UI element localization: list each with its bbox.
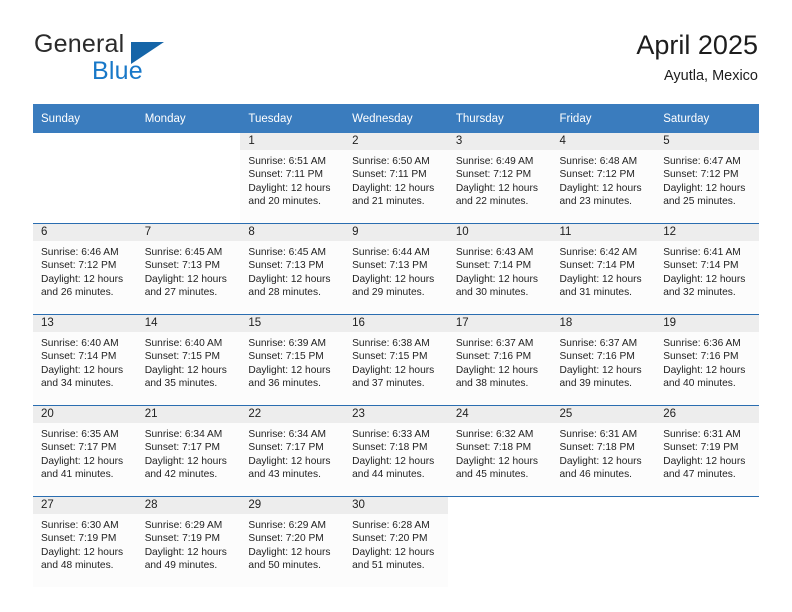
sunrise-time: Sunrise: 6:34 AM — [145, 428, 237, 441]
sunset-time: Sunset: 7:14 PM — [456, 259, 548, 272]
day-details: Sunrise: 6:42 AMSunset: 7:14 PMDaylight:… — [552, 241, 656, 300]
sunset-time: Sunset: 7:17 PM — [41, 441, 133, 454]
sunrise-time: Sunrise: 6:40 AM — [41, 337, 133, 350]
day-details: Sunrise: 6:33 AMSunset: 7:18 PMDaylight:… — [344, 423, 448, 482]
daylight-duration-line2: and 42 minutes. — [145, 468, 237, 481]
day-cell-inner: 20Sunrise: 6:35 AMSunset: 7:17 PMDayligh… — [33, 406, 137, 496]
day-details: Sunrise: 6:51 AMSunset: 7:11 PMDaylight:… — [240, 150, 344, 209]
calendar-day-cell[interactable]: 17Sunrise: 6:37 AMSunset: 7:16 PMDayligh… — [448, 315, 552, 406]
title-block: April 2025 Ayutla, Mexico — [636, 28, 758, 87]
daylight-duration-line2: and 37 minutes. — [352, 377, 444, 390]
calendar-day-cell[interactable]: 11Sunrise: 6:42 AMSunset: 7:14 PMDayligh… — [552, 224, 656, 315]
sunset-time: Sunset: 7:14 PM — [41, 350, 133, 363]
page-title: April 2025 — [636, 28, 758, 62]
day-cell-inner: 23Sunrise: 6:33 AMSunset: 7:18 PMDayligh… — [344, 406, 448, 496]
day-number: 11 — [552, 224, 656, 241]
calendar-day-cell[interactable]: 18Sunrise: 6:37 AMSunset: 7:16 PMDayligh… — [552, 315, 656, 406]
sunset-time: Sunset: 7:20 PM — [248, 532, 340, 545]
daylight-duration-line1: Daylight: 12 hours — [352, 182, 444, 195]
sunset-time: Sunset: 7:17 PM — [145, 441, 237, 454]
sunrise-time: Sunrise: 6:36 AM — [663, 337, 755, 350]
day-cell-inner: 4Sunrise: 6:48 AMSunset: 7:12 PMDaylight… — [552, 133, 656, 223]
sunrise-time: Sunrise: 6:50 AM — [352, 155, 444, 168]
page-subtitle: Ayutla, Mexico — [636, 65, 758, 87]
day-details: Sunrise: 6:48 AMSunset: 7:12 PMDaylight:… — [552, 150, 656, 209]
day-number: 2 — [344, 133, 448, 150]
sunrise-time: Sunrise: 6:34 AM — [248, 428, 340, 441]
day-details: Sunrise: 6:28 AMSunset: 7:20 PMDaylight:… — [344, 514, 448, 573]
daylight-duration-line2: and 41 minutes. — [41, 468, 133, 481]
calendar-week-row: 6Sunrise: 6:46 AMSunset: 7:12 PMDaylight… — [33, 224, 759, 315]
day-number: 7 — [137, 224, 241, 241]
calendar-day-cell[interactable]: 20Sunrise: 6:35 AMSunset: 7:17 PMDayligh… — [33, 406, 137, 497]
daylight-duration-line1: Daylight: 12 hours — [352, 455, 444, 468]
day-cell-inner — [448, 497, 552, 587]
daylight-duration-line1: Daylight: 12 hours — [248, 546, 340, 559]
daylight-duration-line2: and 34 minutes. — [41, 377, 133, 390]
day-number: 26 — [655, 406, 759, 423]
daylight-duration-line2: and 48 minutes. — [41, 559, 133, 572]
sunrise-time: Sunrise: 6:37 AM — [456, 337, 548, 350]
brand-name-general: General — [34, 30, 124, 59]
calendar-day-cell[interactable]: 26Sunrise: 6:31 AMSunset: 7:19 PMDayligh… — [655, 406, 759, 497]
sunrise-time: Sunrise: 6:51 AM — [248, 155, 340, 168]
daylight-duration-line1: Daylight: 12 hours — [41, 546, 133, 559]
day-cell-inner: 30Sunrise: 6:28 AMSunset: 7:20 PMDayligh… — [344, 497, 448, 587]
day-cell-inner: 28Sunrise: 6:29 AMSunset: 7:19 PMDayligh… — [137, 497, 241, 587]
day-number: 22 — [240, 406, 344, 423]
sunrise-time: Sunrise: 6:32 AM — [456, 428, 548, 441]
day-cell-inner — [137, 133, 241, 223]
day-cell-inner — [655, 497, 759, 587]
day-number: 18 — [552, 315, 656, 332]
day-cell-inner: 12Sunrise: 6:41 AMSunset: 7:14 PMDayligh… — [655, 224, 759, 314]
day-cell-inner: 25Sunrise: 6:31 AMSunset: 7:18 PMDayligh… — [552, 406, 656, 496]
sunrise-time: Sunrise: 6:29 AM — [145, 519, 237, 532]
day-cell-inner: 16Sunrise: 6:38 AMSunset: 7:15 PMDayligh… — [344, 315, 448, 405]
calendar-week-row: 1Sunrise: 6:51 AMSunset: 7:11 PMDaylight… — [33, 133, 759, 224]
calendar-body: 1Sunrise: 6:51 AMSunset: 7:11 PMDaylight… — [33, 133, 759, 587]
calendar-week-row: 13Sunrise: 6:40 AMSunset: 7:14 PMDayligh… — [33, 315, 759, 406]
calendar-day-cell[interactable]: 28Sunrise: 6:29 AMSunset: 7:19 PMDayligh… — [137, 497, 241, 588]
day-number: 29 — [240, 497, 344, 514]
sunset-time: Sunset: 7:17 PM — [248, 441, 340, 454]
daylight-duration-line1: Daylight: 12 hours — [456, 182, 548, 195]
daylight-duration-line2: and 35 minutes. — [145, 377, 237, 390]
day-cell-inner: 11Sunrise: 6:42 AMSunset: 7:14 PMDayligh… — [552, 224, 656, 314]
day-cell-inner: 27Sunrise: 6:30 AMSunset: 7:19 PMDayligh… — [33, 497, 137, 587]
sunrise-time: Sunrise: 6:40 AM — [145, 337, 237, 350]
day-details: Sunrise: 6:44 AMSunset: 7:13 PMDaylight:… — [344, 241, 448, 300]
day-cell-inner: 5Sunrise: 6:47 AMSunset: 7:12 PMDaylight… — [655, 133, 759, 223]
day-cell-inner — [33, 133, 137, 223]
calendar-day-cell[interactable]: 8Sunrise: 6:45 AMSunset: 7:13 PMDaylight… — [240, 224, 344, 315]
day-details: Sunrise: 6:34 AMSunset: 7:17 PMDaylight:… — [137, 423, 241, 482]
sunrise-time: Sunrise: 6:28 AM — [352, 519, 444, 532]
daylight-duration-line1: Daylight: 12 hours — [456, 455, 548, 468]
daylight-duration-line1: Daylight: 12 hours — [248, 182, 340, 195]
calendar-day-cell[interactable]: 3Sunrise: 6:49 AMSunset: 7:12 PMDaylight… — [448, 133, 552, 224]
day-details: Sunrise: 6:39 AMSunset: 7:15 PMDaylight:… — [240, 332, 344, 391]
sunset-time: Sunset: 7:12 PM — [41, 259, 133, 272]
day-cell-inner: 7Sunrise: 6:45 AMSunset: 7:13 PMDaylight… — [137, 224, 241, 314]
day-details: Sunrise: 6:32 AMSunset: 7:18 PMDaylight:… — [448, 423, 552, 482]
day-cell-inner: 21Sunrise: 6:34 AMSunset: 7:17 PMDayligh… — [137, 406, 241, 496]
sunset-time: Sunset: 7:14 PM — [560, 259, 652, 272]
daylight-duration-line1: Daylight: 12 hours — [145, 364, 237, 377]
day-details: Sunrise: 6:29 AMSunset: 7:20 PMDaylight:… — [240, 514, 344, 573]
day-details: Sunrise: 6:40 AMSunset: 7:15 PMDaylight:… — [137, 332, 241, 391]
sunset-time: Sunset: 7:13 PM — [248, 259, 340, 272]
sunset-time: Sunset: 7:12 PM — [456, 168, 548, 181]
daylight-duration-line2: and 21 minutes. — [352, 195, 444, 208]
day-cell-inner: 2Sunrise: 6:50 AMSunset: 7:11 PMDaylight… — [344, 133, 448, 223]
daylight-duration-line1: Daylight: 12 hours — [560, 182, 652, 195]
calendar-day-cell[interactable]: 10Sunrise: 6:43 AMSunset: 7:14 PMDayligh… — [448, 224, 552, 315]
daylight-duration-line1: Daylight: 12 hours — [560, 455, 652, 468]
day-cell-inner: 19Sunrise: 6:36 AMSunset: 7:16 PMDayligh… — [655, 315, 759, 405]
daylight-duration-line2: and 31 minutes. — [560, 286, 652, 299]
daylight-duration-line1: Daylight: 12 hours — [41, 273, 133, 286]
day-number: 4 — [552, 133, 656, 150]
day-number: 25 — [552, 406, 656, 423]
day-number: 3 — [448, 133, 552, 150]
day-cell-inner: 3Sunrise: 6:49 AMSunset: 7:12 PMDaylight… — [448, 133, 552, 223]
daylight-duration-line2: and 20 minutes. — [248, 195, 340, 208]
sunset-time: Sunset: 7:19 PM — [41, 532, 133, 545]
sunset-time: Sunset: 7:13 PM — [352, 259, 444, 272]
daylight-duration-line1: Daylight: 12 hours — [663, 455, 755, 468]
daylight-duration-line1: Daylight: 12 hours — [248, 455, 340, 468]
sunrise-time: Sunrise: 6:30 AM — [41, 519, 133, 532]
calendar-day-cell[interactable]: 4Sunrise: 6:48 AMSunset: 7:12 PMDaylight… — [552, 133, 656, 224]
calendar-day-cell[interactable]: 15Sunrise: 6:39 AMSunset: 7:15 PMDayligh… — [240, 315, 344, 406]
day-details: Sunrise: 6:31 AMSunset: 7:18 PMDaylight:… — [552, 423, 656, 482]
daylight-duration-line1: Daylight: 12 hours — [248, 273, 340, 286]
brand-logo[interactable]: General Blue — [34, 30, 294, 92]
day-details: Sunrise: 6:37 AMSunset: 7:16 PMDaylight:… — [448, 332, 552, 391]
calendar-day-cell[interactable]: 29Sunrise: 6:29 AMSunset: 7:20 PMDayligh… — [240, 497, 344, 588]
calendar-day-cell[interactable]: 30Sunrise: 6:28 AMSunset: 7:20 PMDayligh… — [344, 497, 448, 588]
day-number: 13 — [33, 315, 137, 332]
day-cell-inner: 6Sunrise: 6:46 AMSunset: 7:12 PMDaylight… — [33, 224, 137, 314]
daylight-duration-line2: and 47 minutes. — [663, 468, 755, 481]
calendar-day-cell[interactable]: 2Sunrise: 6:50 AMSunset: 7:11 PMDaylight… — [344, 133, 448, 224]
sunrise-time: Sunrise: 6:46 AM — [41, 246, 133, 259]
day-cell-inner: 17Sunrise: 6:37 AMSunset: 7:16 PMDayligh… — [448, 315, 552, 405]
day-cell-inner — [552, 497, 656, 587]
day-number: 12 — [655, 224, 759, 241]
day-number: 17 — [448, 315, 552, 332]
daylight-duration-line2: and 28 minutes. — [248, 286, 340, 299]
brand-name-blue: Blue — [92, 57, 143, 86]
sunrise-time: Sunrise: 6:48 AM — [560, 155, 652, 168]
sunrise-time: Sunrise: 6:43 AM — [456, 246, 548, 259]
daylight-duration-line1: Daylight: 12 hours — [560, 364, 652, 377]
day-number — [655, 497, 759, 514]
day-number: 5 — [655, 133, 759, 150]
day-cell-inner: 15Sunrise: 6:39 AMSunset: 7:15 PMDayligh… — [240, 315, 344, 405]
daylight-duration-line1: Daylight: 12 hours — [663, 182, 755, 195]
day-number: 10 — [448, 224, 552, 241]
calendar-day-cell[interactable]: 21Sunrise: 6:34 AMSunset: 7:17 PMDayligh… — [137, 406, 241, 497]
sunrise-time: Sunrise: 6:33 AM — [352, 428, 444, 441]
daylight-duration-line2: and 45 minutes. — [456, 468, 548, 481]
daylight-duration-line1: Daylight: 12 hours — [352, 546, 444, 559]
day-details: Sunrise: 6:45 AMSunset: 7:13 PMDaylight:… — [137, 241, 241, 300]
calendar-day-cell[interactable]: 25Sunrise: 6:31 AMSunset: 7:18 PMDayligh… — [552, 406, 656, 497]
day-number — [552, 497, 656, 514]
day-cell-inner: 22Sunrise: 6:34 AMSunset: 7:17 PMDayligh… — [240, 406, 344, 496]
sunrise-time: Sunrise: 6:47 AM — [663, 155, 755, 168]
sunrise-time: Sunrise: 6:31 AM — [560, 428, 652, 441]
daylight-duration-line2: and 32 minutes. — [663, 286, 755, 299]
calendar-day-cell[interactable]: 9Sunrise: 6:44 AMSunset: 7:13 PMDaylight… — [344, 224, 448, 315]
day-number: 8 — [240, 224, 344, 241]
calendar-day-cell[interactable]: 5Sunrise: 6:47 AMSunset: 7:12 PMDaylight… — [655, 133, 759, 224]
calendar-day-cell[interactable]: 12Sunrise: 6:41 AMSunset: 7:14 PMDayligh… — [655, 224, 759, 315]
calendar-day-cell-empty — [655, 497, 759, 588]
daylight-duration-line2: and 49 minutes. — [145, 559, 237, 572]
daylight-duration-line1: Daylight: 12 hours — [456, 364, 548, 377]
day-number: 9 — [344, 224, 448, 241]
calendar-day-cell[interactable]: 27Sunrise: 6:30 AMSunset: 7:19 PMDayligh… — [33, 497, 137, 588]
weekday-header-sunday: Sunday — [33, 104, 137, 133]
sunset-time: Sunset: 7:18 PM — [352, 441, 444, 454]
day-number: 24 — [448, 406, 552, 423]
day-details: Sunrise: 6:31 AMSunset: 7:19 PMDaylight:… — [655, 423, 759, 482]
calendar-week-row: 20Sunrise: 6:35 AMSunset: 7:17 PMDayligh… — [33, 406, 759, 497]
daylight-duration-line1: Daylight: 12 hours — [456, 273, 548, 286]
daylight-duration-line2: and 29 minutes. — [352, 286, 444, 299]
calendar-day-cell[interactable]: 22Sunrise: 6:34 AMSunset: 7:17 PMDayligh… — [240, 406, 344, 497]
sunset-time: Sunset: 7:11 PM — [352, 168, 444, 181]
daylight-duration-line2: and 26 minutes. — [41, 286, 133, 299]
day-number: 20 — [33, 406, 137, 423]
daylight-duration-line2: and 27 minutes. — [145, 286, 237, 299]
calendar-day-cell[interactable]: 6Sunrise: 6:46 AMSunset: 7:12 PMDaylight… — [33, 224, 137, 315]
sunset-time: Sunset: 7:16 PM — [663, 350, 755, 363]
calendar-day-cell[interactable]: 23Sunrise: 6:33 AMSunset: 7:18 PMDayligh… — [344, 406, 448, 497]
day-details: Sunrise: 6:49 AMSunset: 7:12 PMDaylight:… — [448, 150, 552, 209]
sunset-time: Sunset: 7:15 PM — [145, 350, 237, 363]
calendar-day-cell[interactable]: 1Sunrise: 6:51 AMSunset: 7:11 PMDaylight… — [240, 133, 344, 224]
day-number: 23 — [344, 406, 448, 423]
daylight-duration-line2: and 50 minutes. — [248, 559, 340, 572]
daylight-duration-line2: and 38 minutes. — [456, 377, 548, 390]
calendar-table: Sunday Monday Tuesday Wednesday Thursday… — [33, 104, 759, 587]
daylight-duration-line2: and 22 minutes. — [456, 195, 548, 208]
weekday-header-tuesday: Tuesday — [240, 104, 344, 133]
weekday-header-friday: Friday — [552, 104, 656, 133]
sunrise-time: Sunrise: 6:41 AM — [663, 246, 755, 259]
calendar-week-row: 27Sunrise: 6:30 AMSunset: 7:19 PMDayligh… — [33, 497, 759, 588]
sunrise-time: Sunrise: 6:39 AM — [248, 337, 340, 350]
daylight-duration-line1: Daylight: 12 hours — [248, 364, 340, 377]
daylight-duration-line2: and 30 minutes. — [456, 286, 548, 299]
daylight-duration-line1: Daylight: 12 hours — [560, 273, 652, 286]
day-number: 15 — [240, 315, 344, 332]
day-details: Sunrise: 6:30 AMSunset: 7:19 PMDaylight:… — [33, 514, 137, 573]
daylight-duration-line1: Daylight: 12 hours — [352, 364, 444, 377]
weekday-header-saturday: Saturday — [655, 104, 759, 133]
day-number: 1 — [240, 133, 344, 150]
sunrise-time: Sunrise: 6:37 AM — [560, 337, 652, 350]
day-cell-inner: 10Sunrise: 6:43 AMSunset: 7:14 PMDayligh… — [448, 224, 552, 314]
daylight-duration-line1: Daylight: 12 hours — [663, 364, 755, 377]
calendar-day-cell[interactable]: 24Sunrise: 6:32 AMSunset: 7:18 PMDayligh… — [448, 406, 552, 497]
day-cell-inner: 13Sunrise: 6:40 AMSunset: 7:14 PMDayligh… — [33, 315, 137, 405]
daylight-duration-line1: Daylight: 12 hours — [145, 546, 237, 559]
sunset-time: Sunset: 7:20 PM — [352, 532, 444, 545]
daylight-duration-line2: and 51 minutes. — [352, 559, 444, 572]
daylight-duration-line2: and 36 minutes. — [248, 377, 340, 390]
day-details: Sunrise: 6:50 AMSunset: 7:11 PMDaylight:… — [344, 150, 448, 209]
sunset-time: Sunset: 7:12 PM — [663, 168, 755, 181]
day-cell-inner: 24Sunrise: 6:32 AMSunset: 7:18 PMDayligh… — [448, 406, 552, 496]
day-details: Sunrise: 6:38 AMSunset: 7:15 PMDaylight:… — [344, 332, 448, 391]
sunrise-time: Sunrise: 6:45 AM — [248, 246, 340, 259]
calendar-day-cell-empty — [448, 497, 552, 588]
sunrise-time: Sunrise: 6:42 AM — [560, 246, 652, 259]
day-details: Sunrise: 6:36 AMSunset: 7:16 PMDaylight:… — [655, 332, 759, 391]
sunset-time: Sunset: 7:15 PM — [248, 350, 340, 363]
daylight-duration-line2: and 44 minutes. — [352, 468, 444, 481]
sunrise-time: Sunrise: 6:31 AM — [663, 428, 755, 441]
day-cell-inner: 29Sunrise: 6:29 AMSunset: 7:20 PMDayligh… — [240, 497, 344, 587]
sunrise-time: Sunrise: 6:38 AM — [352, 337, 444, 350]
sunset-time: Sunset: 7:16 PM — [456, 350, 548, 363]
day-number: 27 — [33, 497, 137, 514]
calendar-day-cell-empty — [33, 133, 137, 224]
daylight-duration-line2: and 25 minutes. — [663, 195, 755, 208]
day-details: Sunrise: 6:29 AMSunset: 7:19 PMDaylight:… — [137, 514, 241, 573]
day-number: 16 — [344, 315, 448, 332]
daylight-duration-line1: Daylight: 12 hours — [145, 273, 237, 286]
day-details: Sunrise: 6:45 AMSunset: 7:13 PMDaylight:… — [240, 241, 344, 300]
sunset-time: Sunset: 7:18 PM — [456, 441, 548, 454]
daylight-duration-line2: and 23 minutes. — [560, 195, 652, 208]
sunrise-time: Sunrise: 6:29 AM — [248, 519, 340, 532]
sunset-time: Sunset: 7:11 PM — [248, 168, 340, 181]
weekday-header-monday: Monday — [137, 104, 241, 133]
calendar-day-cell[interactable]: 14Sunrise: 6:40 AMSunset: 7:15 PMDayligh… — [137, 315, 241, 406]
day-cell-inner: 18Sunrise: 6:37 AMSunset: 7:16 PMDayligh… — [552, 315, 656, 405]
page-header: General Blue April 2025 Ayutla, Mexico — [34, 28, 758, 98]
day-cell-inner: 9Sunrise: 6:44 AMSunset: 7:13 PMDaylight… — [344, 224, 448, 314]
day-cell-inner: 1Sunrise: 6:51 AMSunset: 7:11 PMDaylight… — [240, 133, 344, 223]
daylight-duration-line1: Daylight: 12 hours — [663, 273, 755, 286]
day-details: Sunrise: 6:47 AMSunset: 7:12 PMDaylight:… — [655, 150, 759, 209]
sunset-time: Sunset: 7:19 PM — [145, 532, 237, 545]
sunrise-time: Sunrise: 6:49 AM — [456, 155, 548, 168]
sunrise-time: Sunrise: 6:44 AM — [352, 246, 444, 259]
day-number: 14 — [137, 315, 241, 332]
calendar-day-cell[interactable]: 19Sunrise: 6:36 AMSunset: 7:16 PMDayligh… — [655, 315, 759, 406]
calendar-day-cell-empty — [137, 133, 241, 224]
sunset-time: Sunset: 7:18 PM — [560, 441, 652, 454]
day-number — [448, 497, 552, 514]
daylight-duration-line1: Daylight: 12 hours — [41, 364, 133, 377]
daylight-duration-line1: Daylight: 12 hours — [145, 455, 237, 468]
day-details: Sunrise: 6:43 AMSunset: 7:14 PMDaylight:… — [448, 241, 552, 300]
sunrise-time: Sunrise: 6:45 AM — [145, 246, 237, 259]
day-number: 19 — [655, 315, 759, 332]
day-details: Sunrise: 6:34 AMSunset: 7:17 PMDaylight:… — [240, 423, 344, 482]
calendar-header-row: Sunday Monday Tuesday Wednesday Thursday… — [33, 104, 759, 133]
day-number — [137, 133, 241, 150]
sunset-time: Sunset: 7:16 PM — [560, 350, 652, 363]
day-details: Sunrise: 6:35 AMSunset: 7:17 PMDaylight:… — [33, 423, 137, 482]
calendar-day-cell[interactable]: 7Sunrise: 6:45 AMSunset: 7:13 PMDaylight… — [137, 224, 241, 315]
calendar-day-cell[interactable]: 16Sunrise: 6:38 AMSunset: 7:15 PMDayligh… — [344, 315, 448, 406]
day-cell-inner: 8Sunrise: 6:45 AMSunset: 7:13 PMDaylight… — [240, 224, 344, 314]
daylight-duration-line1: Daylight: 12 hours — [41, 455, 133, 468]
day-cell-inner: 26Sunrise: 6:31 AMSunset: 7:19 PMDayligh… — [655, 406, 759, 496]
weekday-header-wednesday: Wednesday — [344, 104, 448, 133]
day-details: Sunrise: 6:37 AMSunset: 7:16 PMDaylight:… — [552, 332, 656, 391]
day-number — [33, 133, 137, 150]
calendar-day-cell-empty — [552, 497, 656, 588]
sunset-time: Sunset: 7:13 PM — [145, 259, 237, 272]
day-number: 30 — [344, 497, 448, 514]
sunset-time: Sunset: 7:12 PM — [560, 168, 652, 181]
day-cell-inner: 14Sunrise: 6:40 AMSunset: 7:15 PMDayligh… — [137, 315, 241, 405]
day-details: Sunrise: 6:41 AMSunset: 7:14 PMDaylight:… — [655, 241, 759, 300]
calendar-day-cell[interactable]: 13Sunrise: 6:40 AMSunset: 7:14 PMDayligh… — [33, 315, 137, 406]
sunset-time: Sunset: 7:19 PM — [663, 441, 755, 454]
weekday-header-thursday: Thursday — [448, 104, 552, 133]
sunrise-time: Sunrise: 6:35 AM — [41, 428, 133, 441]
day-number: 21 — [137, 406, 241, 423]
sunset-time: Sunset: 7:14 PM — [663, 259, 755, 272]
daylight-duration-line2: and 39 minutes. — [560, 377, 652, 390]
calendar-page: General Blue April 2025 Ayutla, Mexico S… — [0, 0, 792, 612]
daylight-duration-line1: Daylight: 12 hours — [352, 273, 444, 286]
day-number: 6 — [33, 224, 137, 241]
daylight-duration-line2: and 46 minutes. — [560, 468, 652, 481]
daylight-duration-line2: and 40 minutes. — [663, 377, 755, 390]
sunset-time: Sunset: 7:15 PM — [352, 350, 444, 363]
daylight-duration-line2: and 43 minutes. — [248, 468, 340, 481]
day-details: Sunrise: 6:40 AMSunset: 7:14 PMDaylight:… — [33, 332, 137, 391]
day-details: Sunrise: 6:46 AMSunset: 7:12 PMDaylight:… — [33, 241, 137, 300]
day-number: 28 — [137, 497, 241, 514]
